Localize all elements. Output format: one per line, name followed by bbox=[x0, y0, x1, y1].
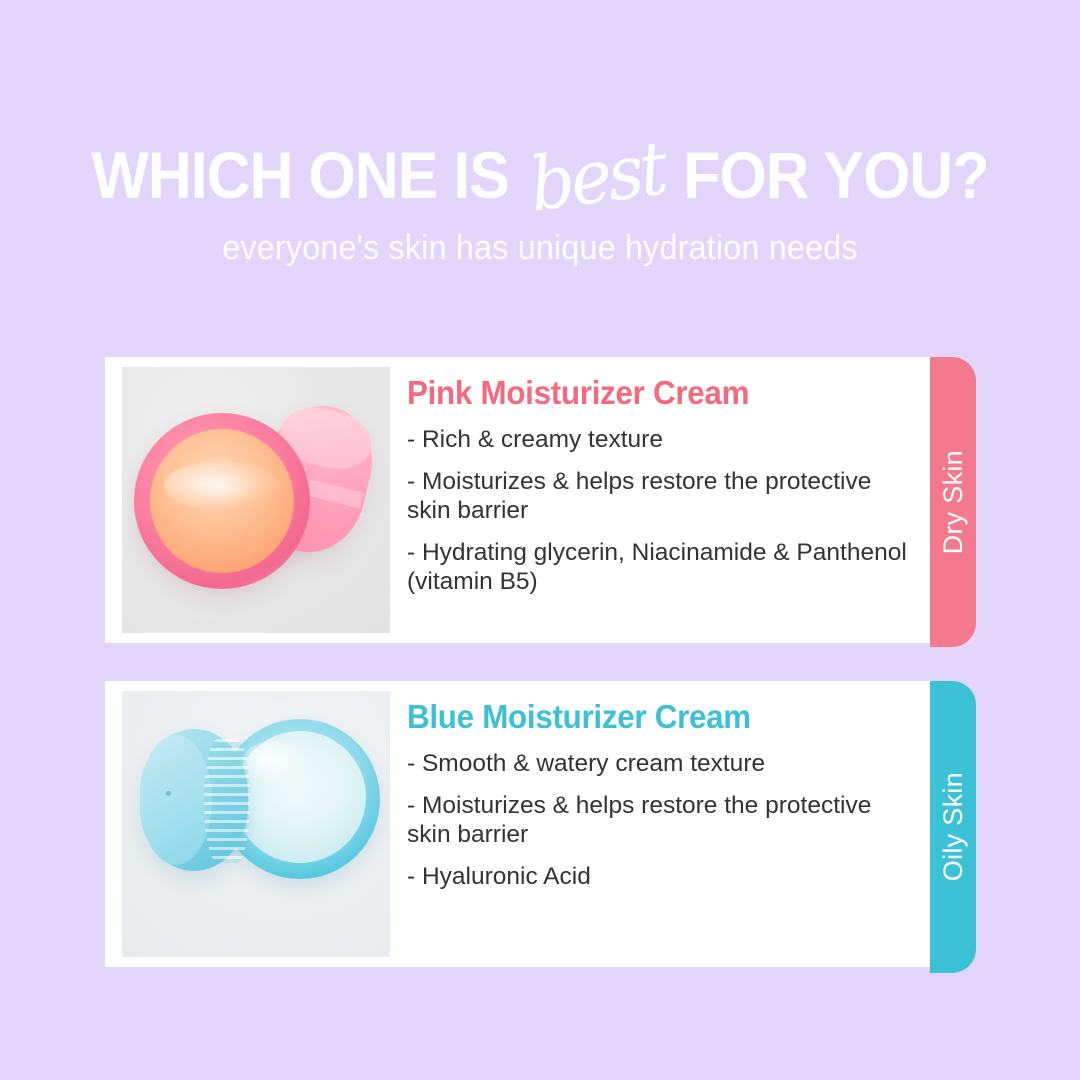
skin-type-tab-dry[interactable]: Dry Skin bbox=[930, 357, 976, 647]
product-bullet: - Hydrating glycerin, Niacinamide & Pant… bbox=[407, 538, 914, 596]
page-title-script-word: best bbox=[521, 135, 673, 220]
product-photo-pink bbox=[122, 367, 390, 633]
page-title-part-2: FOR YOU? bbox=[683, 142, 988, 208]
jar-body-icon bbox=[134, 413, 310, 589]
product-details-blue: Blue Moisturizer Cream - Smooth & watery… bbox=[390, 681, 930, 891]
skin-type-tab-label: Dry Skin bbox=[938, 450, 969, 554]
skin-type-tab-label: Oily Skin bbox=[938, 772, 969, 881]
product-card-blue[interactable]: Blue Moisturizer Cream - Smooth & watery… bbox=[105, 681, 930, 967]
header: WHICH ONE IS best FOR YOU? everyone's sk… bbox=[0, 0, 1080, 268]
skin-type-tab-oily[interactable]: Oily Skin bbox=[930, 681, 976, 973]
page-subtitle: everyone's skin has unique hydration nee… bbox=[27, 208, 1053, 268]
product-bullet: - Moisturizes & helps restore the protec… bbox=[407, 791, 914, 849]
product-bullet: - Moisturizes & helps restore the protec… bbox=[407, 467, 914, 525]
product-bullet: - Rich & creamy texture bbox=[407, 425, 914, 454]
product-bullet: - Hyaluronic Acid bbox=[407, 862, 914, 891]
page-title: WHICH ONE IS best FOR YOU? bbox=[43, 0, 1037, 208]
product-title-blue: Blue Moisturizer Cream bbox=[407, 699, 889, 735]
product-photo-blue bbox=[122, 691, 390, 957]
cream-icon bbox=[150, 429, 294, 573]
product-title-pink: Pink Moisturizer Cream bbox=[407, 375, 889, 411]
page-title-part-1: WHICH ONE IS bbox=[91, 142, 508, 208]
product-bullet: - Smooth & watery cream texture bbox=[407, 749, 914, 778]
product-details-pink: Pink Moisturizer Cream - Rich & creamy t… bbox=[390, 357, 930, 596]
product-card-pink[interactable]: Pink Moisturizer Cream - Rich & creamy t… bbox=[105, 357, 930, 643]
jar-lid-icon bbox=[140, 729, 248, 871]
